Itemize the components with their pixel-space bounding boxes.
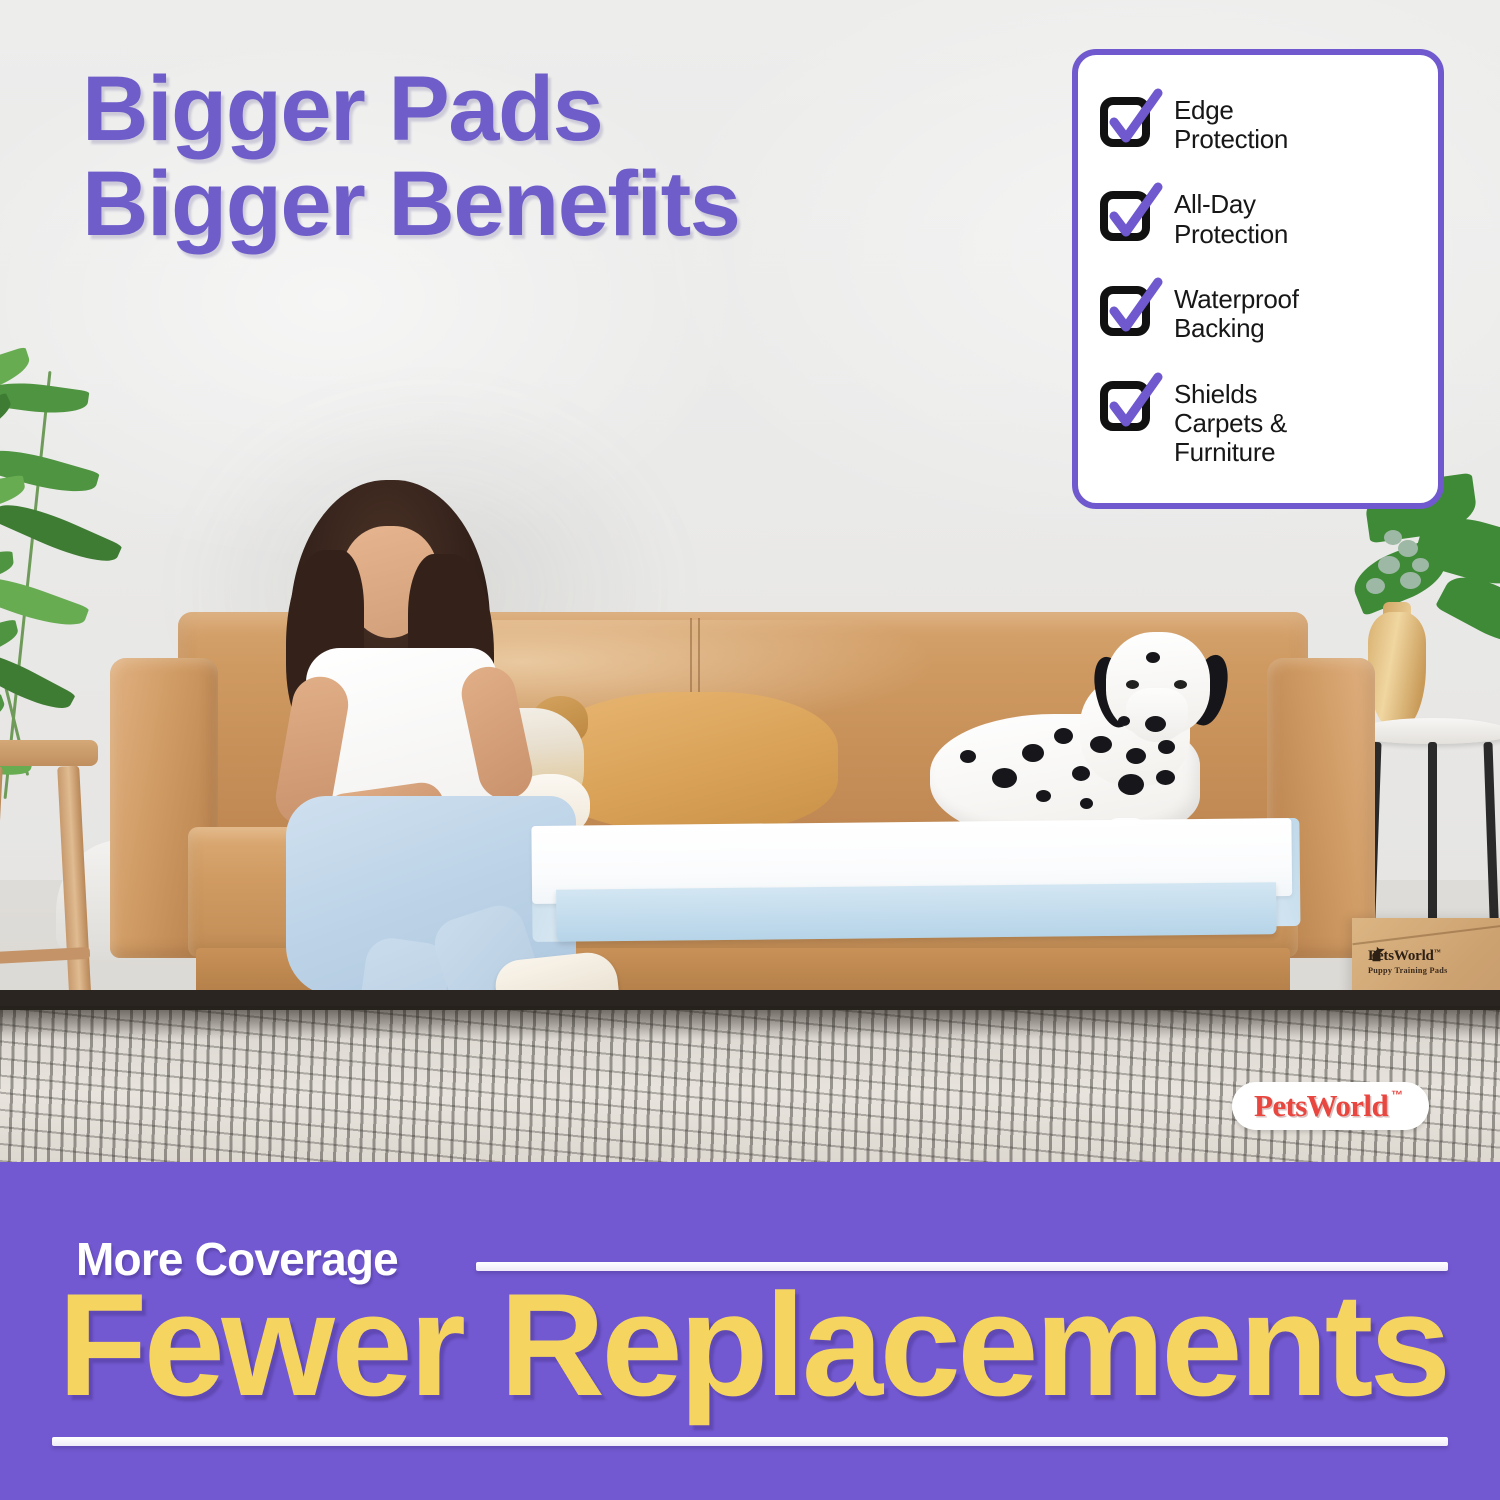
headline-line-1: Bigger Pads xyxy=(82,62,982,157)
wooden-stool xyxy=(0,740,98,1030)
trademark-symbol: ™ xyxy=(1391,1088,1403,1102)
rug-shadow xyxy=(0,1006,1500,1040)
banner-bottom-divider xyxy=(52,1437,1448,1446)
checklist-label: WaterproofBacking xyxy=(1174,284,1299,343)
woman-on-sofa xyxy=(250,470,670,1070)
box-brand-tm: ™ xyxy=(1434,948,1441,956)
checklist-label: All-DayProtection xyxy=(1174,189,1288,248)
checklist-label: ShieldsCarpets &Furniture xyxy=(1174,379,1287,467)
checked-checkbox-icon xyxy=(1100,191,1156,243)
puppy-training-pad xyxy=(531,818,1292,946)
banner-headline-text: Fewer Replacements xyxy=(58,1272,1458,1418)
checked-checkbox-icon xyxy=(1100,381,1156,433)
box-brand-name: PetsWorld xyxy=(1368,948,1434,964)
benefits-checklist-card: EdgeProtection All-DayProtection xyxy=(1072,49,1444,509)
box-tagline: Puppy Training Pads xyxy=(1368,966,1488,975)
checklist-item-edge-protection: EdgeProtection xyxy=(1100,95,1420,154)
petsworld-logo-badge: PetsWorld ™ xyxy=(1232,1082,1429,1130)
product-marketing-poster: PetsWorld™ Puppy Training Pads www.p Cau… xyxy=(0,0,1500,1500)
checklist-item-waterproof-backing: WaterproofBacking xyxy=(1100,284,1420,343)
checklist-label: EdgeProtection xyxy=(1174,95,1288,154)
brand-name: PetsWorld xyxy=(1254,1088,1388,1124)
checklist-item-shields-carpets-furniture: ShieldsCarpets &Furniture xyxy=(1100,379,1420,467)
checklist-item-all-day-protection: All-DayProtection xyxy=(1100,189,1420,248)
checked-checkbox-icon xyxy=(1100,286,1156,338)
wooden-vase xyxy=(1368,612,1426,730)
box-brand-block: PetsWorld™ Puppy Training Pads xyxy=(1368,948,1488,975)
checked-checkbox-icon xyxy=(1100,97,1156,149)
headline-line-2: Bigger Benefits xyxy=(82,157,982,252)
main-headline: Bigger Pads Bigger Benefits xyxy=(82,62,982,252)
